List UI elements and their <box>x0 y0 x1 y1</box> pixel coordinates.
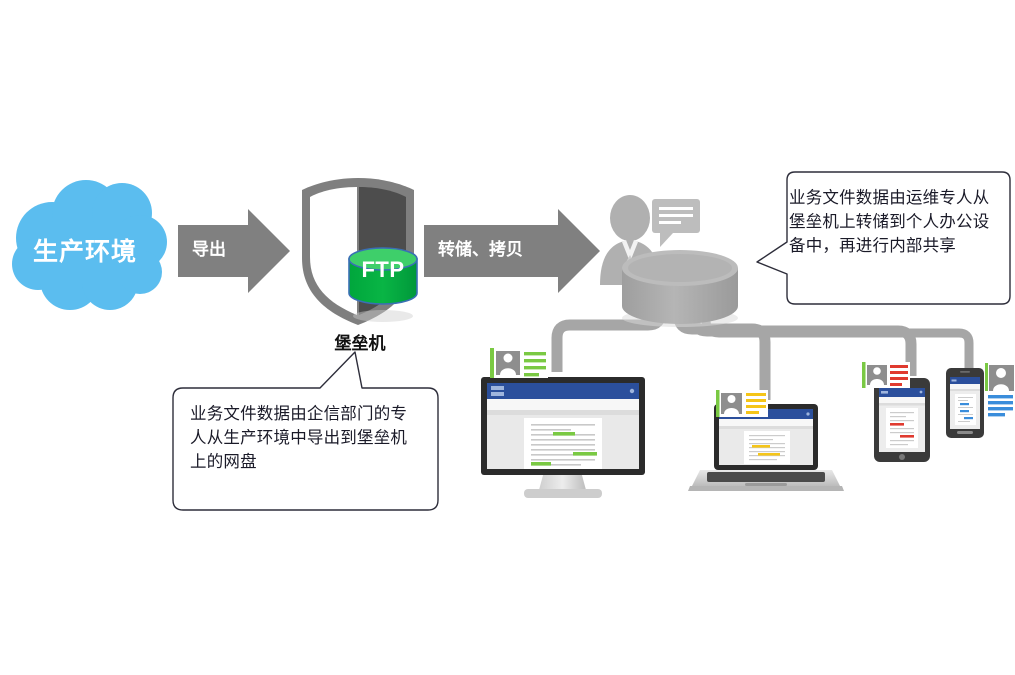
data-cylinder-icon <box>622 250 738 327</box>
speech-bubble-icon <box>652 199 700 247</box>
tablet-icon <box>874 378 930 462</box>
smartphone-icon <box>946 368 984 438</box>
monitor-icon <box>481 377 645 498</box>
transfer-arrow-label: 转储、拷贝 <box>438 240 523 260</box>
diagram-canvas: 生产环境 导出 转储、拷贝 FTP 堡垒机 业务文件数据由企信部门的专人从生产环… <box>0 0 1015 675</box>
cloud-label: 生产环境 <box>10 237 160 267</box>
laptop-icon <box>688 404 844 491</box>
contact-card-icon <box>985 363 1015 416</box>
export-arrow-label: 导出 <box>192 240 226 260</box>
contact-card-icon <box>862 362 910 388</box>
contact-card-icon <box>490 348 548 378</box>
bastion-host-label: 堡垒机 <box>295 329 425 354</box>
ftp-store-label: FTP <box>352 257 414 283</box>
contact-card-icon <box>716 390 768 417</box>
callout-left-text: 业务文件数据由企信部门的专人从生产环境中导出到堡垒机上的网盘 <box>190 402 422 474</box>
diagram-graphics <box>0 0 1015 675</box>
callout-right-text: 业务文件数据由运维专人从堡垒机上转储到个人办公设备中，再进行内部共享 <box>789 186 997 258</box>
